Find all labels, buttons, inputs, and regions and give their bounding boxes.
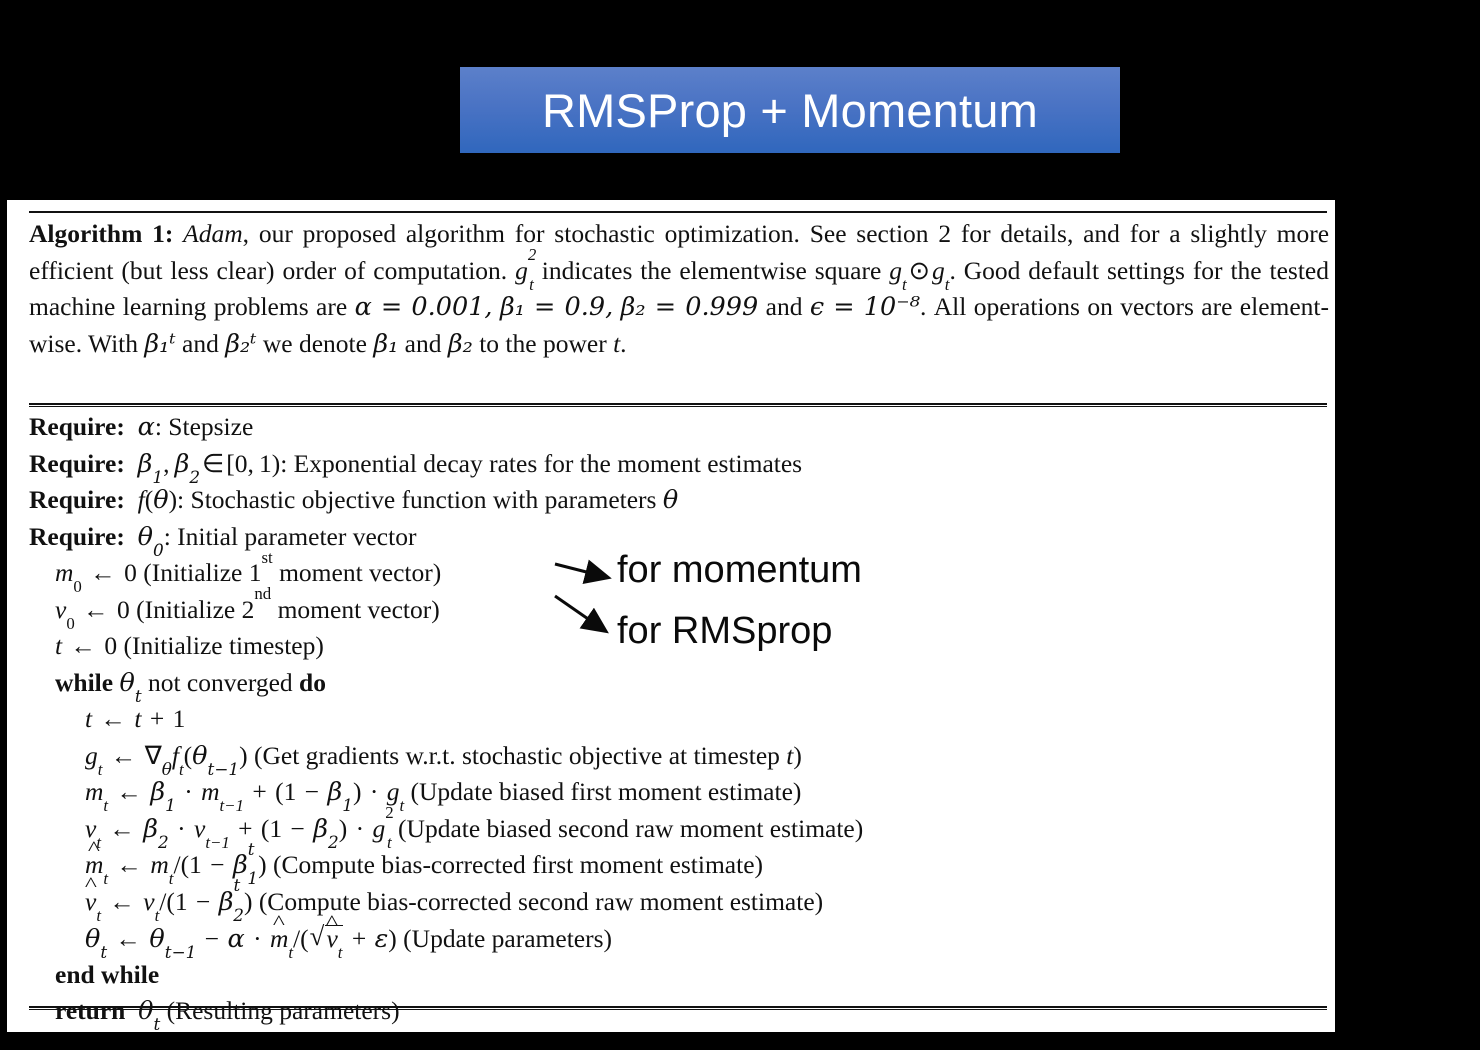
step-update-theta: θt ← θt−1 − α · mt/(vt + ε) (Update para… xyxy=(29,925,1329,962)
rule-middle xyxy=(29,403,1327,407)
while-condition: not converged xyxy=(148,668,293,697)
arrow-to-momentum-icon xyxy=(552,552,622,592)
step-vhat: vt ← vt/(1 − βt2) (Compute bias-correcte… xyxy=(29,889,1329,926)
algorithm-caption-text-8: . xyxy=(620,329,626,358)
algorithm-body: Require: α: Stepsize Require: β1, β2∈[0,… xyxy=(29,414,1329,1032)
math-beta2-2: β2 xyxy=(175,449,200,479)
algorithm-caption-text-6: and xyxy=(398,329,448,358)
require-keyword-3: Require: xyxy=(29,485,125,514)
algorithm-caption-text-5: we denote xyxy=(256,329,373,358)
require-line-alpha: Require: α: Stepsize xyxy=(29,414,1329,451)
require-line-betas: Require: β1, β2∈[0, 1): Exponential deca… xyxy=(29,451,1329,488)
step-mhat: mt ← mt/(1 − βt1) (Compute bias-correcte… xyxy=(29,852,1329,889)
step-gradient: gt ← ∇θft(θt−1) (Get gradients w.r.t. st… xyxy=(29,743,1329,780)
math-epsilon-default: ϵ = 10⁻⁸ xyxy=(810,292,920,322)
algorithm-caption: Algorithm 1: Adam, our proposed algorith… xyxy=(29,216,1329,363)
caption-and-1: and xyxy=(766,292,803,321)
ordinal-st: st xyxy=(261,548,272,567)
math-g-t-a: gt xyxy=(889,256,906,285)
slide-title-banner: RMSProp + Momentum xyxy=(460,67,1120,153)
math-beta2: β₂ xyxy=(448,329,473,359)
annotation-for-momentum: for momentum xyxy=(617,551,862,589)
math-beta1-power-t: β₁ᵗ xyxy=(144,329,175,359)
step-init-v-desc-b: moment vector) xyxy=(271,595,440,624)
step-increment-t: t ← t + 1 xyxy=(29,706,1329,743)
step-update-theta-desc: (Update parameters) xyxy=(403,924,612,953)
algorithm-caption-text-2: indicates the elementwise square xyxy=(534,256,889,285)
algorithm-caption-label: Algorithm 1: xyxy=(29,219,173,248)
return-keyword: return xyxy=(55,996,125,1025)
math-g-t-b: gt xyxy=(932,256,949,285)
require-keyword-1: Require: xyxy=(29,412,125,441)
step-update-v: vt ← β2 · vt−1 + (1 − β2) · g2t (Update … xyxy=(29,816,1329,853)
step-update-m-desc: (Update biased first moment estimate) xyxy=(411,777,802,806)
rule-top xyxy=(29,211,1327,213)
step-update-m: mt ← β1 · mt−1 + (1 − β1) · gt (Update b… xyxy=(29,779,1329,816)
arrow-to-rmsprop-icon xyxy=(552,588,622,648)
while-keyword: while xyxy=(55,668,113,697)
math-f-theta: f xyxy=(138,485,145,514)
step-while: while θt not converged do xyxy=(29,670,1329,707)
step-init-m-desc-a: (Initialize 1 xyxy=(143,558,261,587)
require-betas-desc: ): Exponential decay rates for the momen… xyxy=(272,449,802,478)
step-update-v-desc: (Update biased second raw moment estimat… xyxy=(398,814,863,843)
rule-bottom xyxy=(29,1006,1327,1010)
math-theta-0: θ0 xyxy=(138,522,164,552)
math-beta1: β₁ xyxy=(373,329,398,359)
math-alpha-1: α xyxy=(138,412,155,442)
math-g-squared: g2t xyxy=(515,256,534,285)
math-beta2-default: β₂ = 0.999 xyxy=(621,292,759,322)
do-keyword: do xyxy=(299,668,326,697)
math-beta1-2: β1 xyxy=(138,449,163,479)
step-init-v-desc-a: (Initialize 2 xyxy=(136,595,254,624)
require-theta0-desc: : Initial parameter vector xyxy=(164,522,417,551)
require-alpha-desc: : Stepsize xyxy=(155,412,253,441)
step-return-desc: (Resulting parameters) xyxy=(167,996,400,1025)
step-end-while: end while xyxy=(29,962,1329,999)
end-while-keyword: end while xyxy=(55,960,159,989)
step-init-t-desc: (Initialize timestep) xyxy=(123,631,323,660)
step-init-m-desc-b: moment vector) xyxy=(273,558,442,587)
algorithm-caption-name: Adam xyxy=(183,219,243,248)
step-vhat-desc: (Compute bias-corrected second raw momen… xyxy=(259,887,823,916)
caption-and-2: and xyxy=(182,329,219,358)
annotation-for-rmsprop: for RMSprop xyxy=(617,612,832,650)
require-keyword-2: Require: xyxy=(29,449,125,478)
require-f-desc: ): Stochastic objective function with pa… xyxy=(169,485,663,514)
algorithm-caption-text-7: to the power xyxy=(473,329,613,358)
math-beta2-power-t: β₂ᵗ xyxy=(225,329,256,359)
require-line-f: Require: f(θ): Stochastic objective func… xyxy=(29,487,1329,524)
require-keyword-4: Require: xyxy=(29,522,125,551)
math-beta1-default: β₁ = 0.9, xyxy=(500,292,613,322)
page-title: RMSProp + Momentum xyxy=(542,87,1038,134)
step-mhat-desc: (Compute bias-corrected first moment est… xyxy=(273,850,763,879)
step-gradient-desc: (Get gradients w.r.t. stochastic objecti… xyxy=(254,741,786,770)
step-return: return θt (Resulting parameters) xyxy=(29,998,1329,1032)
math-odot-operator: ⊙ xyxy=(907,256,932,285)
ordinal-nd: nd xyxy=(254,584,271,603)
math-alpha-default: α = 0.001, xyxy=(355,292,493,322)
